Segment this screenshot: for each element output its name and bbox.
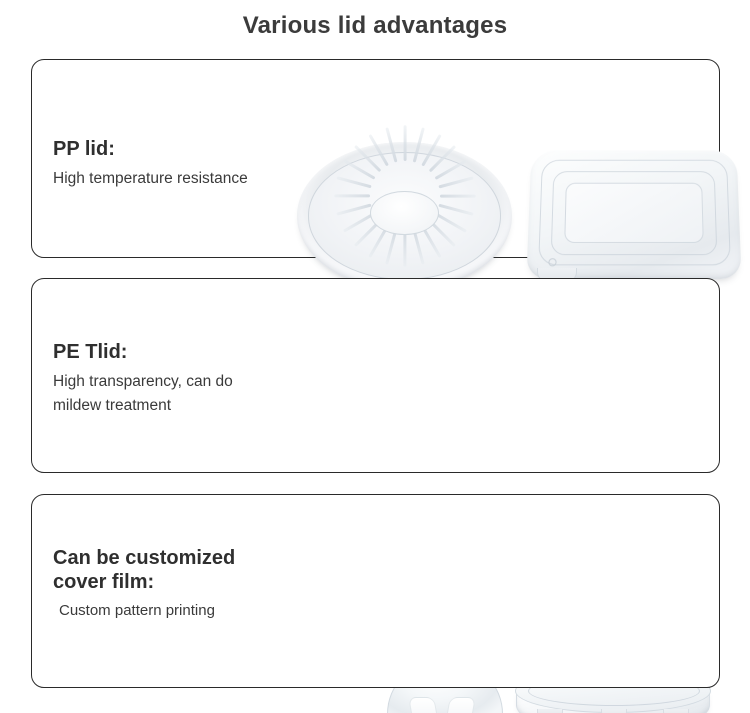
lid-vent-dot [548,259,556,267]
panel-film-text-block: Can be customized cover film: Custom pat… [53,547,235,622]
panel-pe-lid: PE Tlid: High transparency, can do milde… [31,278,720,473]
panel-pp-heading: PP lid: [53,138,248,162]
lid-rib [412,127,424,162]
page-title: Various lid advantages [0,12,750,40]
panel-pp-text-block: PP lid: High temperature resistance [53,138,248,191]
lid-bump-right [663,709,689,713]
lid-rib [336,176,371,188]
lid-center-hub [370,191,439,235]
lid-rib [385,229,397,264]
round-ribbed-pp-lid-image [297,142,512,290]
lid-rib [440,194,476,197]
panel-pe-text-block: PE Tlid: High transparency, can do milde… [53,341,233,418]
panel-pe-description: High transparency, can do mildew treatme… [53,370,233,418]
lid-rib [403,231,406,267]
lid-rib [385,127,397,162]
lid-rib [438,204,473,216]
panel-pp-lid: PP lid: High temperature resistance [31,59,720,258]
lid-rib [403,125,406,161]
infographic-page: Various lid advantages PP lid: High temp… [0,0,750,713]
lid-bump-left [537,709,563,713]
lid-rib-inner [564,183,704,243]
lid-rib [334,194,370,197]
lid-bump-center [601,709,627,713]
lid-rib [438,176,473,188]
panel-film-heading: Can be customized cover film: [53,547,235,594]
lid-body [526,150,741,278]
rectangular-pp-lid-image [529,148,739,278]
lid-rib [336,204,371,216]
lid-rib [412,229,424,264]
panel-film-description: Custom pattern printing [53,599,235,622]
panel-cover-film: Can be customized cover film: Custom pat… [31,494,720,688]
panel-pp-description: High temperature resistance [53,167,248,191]
panel-pe-heading: PE Tlid: [53,341,233,365]
